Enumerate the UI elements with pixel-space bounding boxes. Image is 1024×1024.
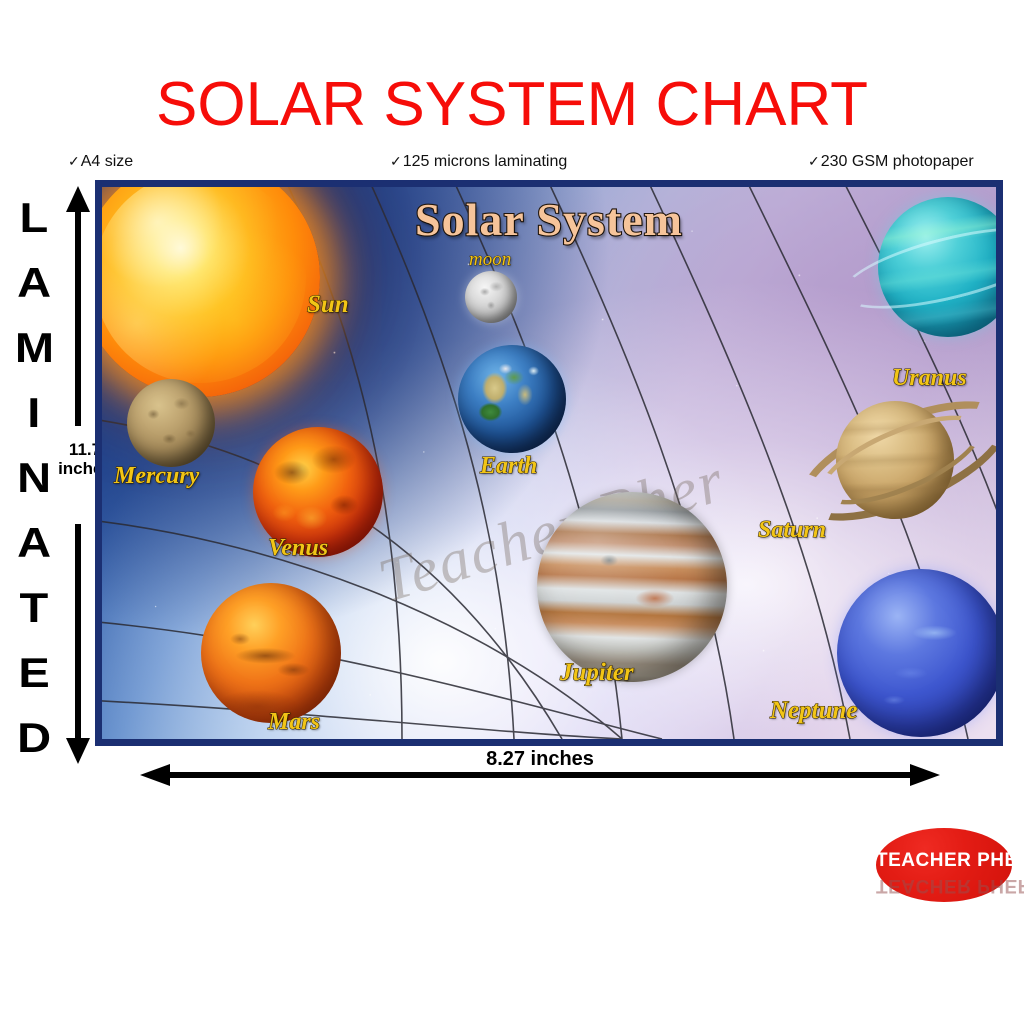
label-saturn: Saturn	[758, 517, 826, 544]
feature-photopaper: ✓230 GSM photopaper	[808, 152, 974, 171]
brand-logo: TEACHER PHER TEACHER PHER	[876, 828, 1012, 924]
laminated-vertical-text: L A M I N A T E D	[8, 198, 60, 758]
laminated-letter: L	[20, 198, 49, 238]
label-moon: moon	[469, 249, 511, 271]
laminated-letter: N	[17, 458, 51, 498]
uranus-graphic	[832, 187, 996, 371]
moon-graphic	[465, 271, 517, 323]
laminated-letter: D	[17, 718, 51, 758]
feature-label: 230 GSM photopaper	[821, 153, 974, 170]
laminated-letter: A	[17, 263, 51, 303]
laminated-letter: T	[20, 588, 49, 628]
label-mars: Mars	[268, 709, 320, 736]
laminated-letter: M	[14, 328, 53, 368]
feature-laminating: ✓125 microns laminating	[390, 152, 567, 171]
laminated-letter: A	[17, 523, 51, 563]
solar-system-poster: Solar System Teacher Pher Sun Mercury Ve…	[95, 180, 1003, 746]
label-sun: Sun	[307, 291, 349, 319]
laminated-letter: E	[18, 653, 49, 693]
jupiter-graphic	[537, 492, 727, 682]
check-icon: ✓	[390, 153, 402, 169]
logo-reflection: TEACHER PHER	[876, 874, 1012, 896]
feature-label: 125 microns laminating	[403, 153, 568, 170]
label-mercury: Mercury	[114, 463, 199, 490]
width-dimension-arrow	[140, 762, 940, 788]
product-listing-image: SOLAR SYSTEM CHART ✓A4 size ✓125 microns…	[0, 0, 1024, 1024]
label-neptune: Neptune	[770, 697, 858, 725]
neptune-graphic	[837, 569, 996, 737]
label-jupiter: Jupiter	[560, 659, 634, 687]
mercury-graphic	[127, 379, 215, 467]
check-icon: ✓	[808, 153, 820, 169]
check-icon: ✓	[68, 153, 80, 169]
page-title: SOLAR SYSTEM CHART	[0, 74, 1024, 136]
feature-a4-size: ✓A4 size	[68, 152, 133, 171]
label-venus: Venus	[268, 535, 328, 562]
earth-graphic	[458, 345, 566, 453]
laminated-letter: I	[27, 393, 40, 433]
feature-label: A4 size	[81, 153, 133, 170]
mars-graphic	[201, 583, 341, 723]
logo-text: TEACHER PHER	[876, 850, 1012, 872]
label-uranus: Uranus	[892, 365, 967, 392]
label-earth: Earth	[480, 453, 537, 480]
